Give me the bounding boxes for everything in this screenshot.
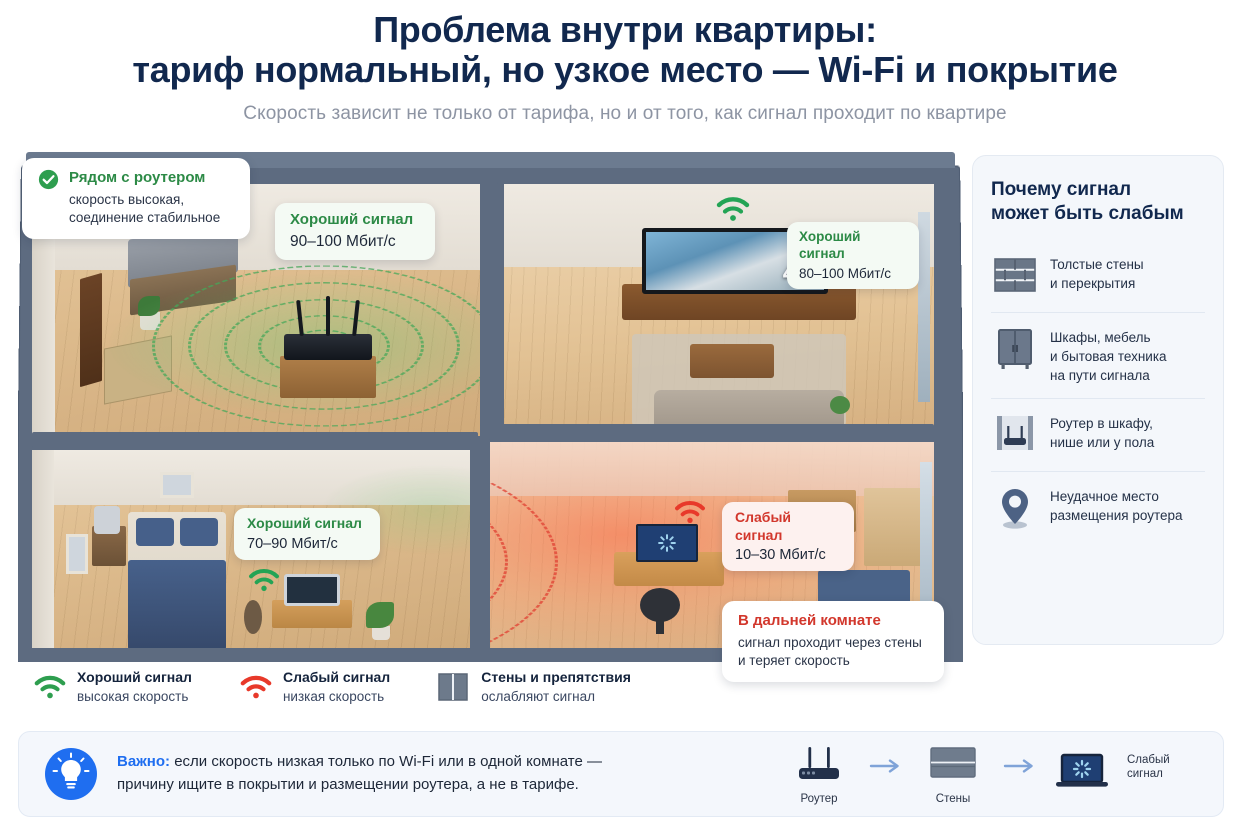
pillow-2 — [180, 518, 218, 546]
infographic-root: Проблема внутри квартиры: тариф нормальн… — [0, 0, 1250, 833]
panel-row-thick-walls: Толстые стены и перекрытия — [991, 240, 1205, 312]
wall-horizontal-left — [32, 432, 478, 448]
panel-title: Почему сигнал может быть слабым — [991, 178, 1205, 226]
legend-item-weak-title: Слабый сигнал — [283, 668, 390, 686]
bottom-note-strong: Важно: — [117, 753, 170, 770]
wall-block-icon — [438, 672, 470, 702]
page-title-line-2: тариф нормальный, но узкое место — Wi-Fi… — [0, 50, 1250, 90]
callout-far-room: В дальней комнате сигнал проходит через … — [722, 601, 944, 682]
flow-step-walls-caption: Стены — [916, 792, 990, 806]
flow-device-caption-line-2: сигнал — [1127, 767, 1197, 781]
check-circle-icon — [38, 169, 59, 190]
legend-item-weak: Слабый сигнал низкая скорость — [240, 668, 390, 706]
wall-vertical-top — [480, 182, 498, 438]
panel-row-thick-walls-text: Толстые стены и перекрытия — [1050, 253, 1144, 293]
bottom-note-line-2: причину ищите в покрытии и размещении ро… — [117, 774, 602, 797]
callout-near-router-line-1: скорость высокая, — [69, 191, 220, 210]
panel-row-bad-placement-text: Неудачное место размещения роутера — [1050, 485, 1183, 525]
bedroom-wall-picture-2 — [66, 534, 88, 574]
office-wardrobe — [864, 488, 928, 566]
panel-row-0-line-2: и перекрытия — [1050, 274, 1144, 293]
signal-flow-diagram: Роутер Стены — [782, 740, 1197, 806]
flow-step-router: Роутер — [782, 740, 856, 806]
bedroom-stool — [244, 600, 262, 634]
coffee-table — [690, 344, 774, 378]
chip-bedroom-value: 70–90 Мбит/с — [247, 536, 367, 552]
wifi-green-icon — [716, 196, 750, 222]
bedroom-monitor — [284, 574, 340, 606]
callout-near-router-line-2: соединение стабильное — [69, 209, 220, 228]
map-pin-icon — [993, 485, 1037, 531]
bottom-note-text: Важно: если скорость низкая только по Wi… — [117, 751, 602, 797]
wall-vertical-bottom — [470, 438, 490, 650]
panel-row-2-line-2: нише или у пола — [1050, 433, 1154, 452]
flow-step-device — [1050, 749, 1114, 798]
legend: Хороший сигнал высокая скорость Слабый с… — [34, 668, 631, 706]
panel-row-router-niche: Роутер в шкафу, нише или у пола — [991, 398, 1205, 471]
panel-title-line-2: может быть слабым — [991, 202, 1205, 226]
panel-row-1-line-1: Шкафы, мебель — [1050, 328, 1167, 347]
panel-row-0-line-1: Толстые стены — [1050, 255, 1144, 274]
chip-living-room: Хороший сигнал 80–100 Мбит/с — [787, 222, 919, 289]
wifi-green-icon — [34, 673, 66, 701]
page-subtitle: Скорость зависит не только от тарифа, но… — [0, 103, 1250, 125]
wifi-green-icon — [248, 568, 280, 592]
chip-router-room: Хороший сигнал 90–100 Мбит/с — [275, 203, 435, 260]
chip-far-room-label: Слабый сигнал — [735, 509, 841, 544]
bedroom-plant-pot — [372, 626, 390, 640]
living-window — [918, 212, 930, 402]
cabinet-icon — [993, 326, 1037, 372]
bottom-note-rest: если скорость низкая только по Wi-Fi или… — [170, 753, 602, 770]
router-body — [284, 334, 372, 360]
legend-item-good-title: Хороший сигнал — [77, 668, 192, 686]
chip-bedroom-label: Хороший сигнал — [247, 515, 367, 533]
router-antenna-2 — [326, 296, 330, 336]
callout-far-room-line-2: и теряет скорость — [738, 652, 928, 671]
chip-far-room: Слабый сигнал 10–30 Мбит/с — [722, 502, 854, 571]
legend-item-walls: Стены и препятствия ослабляют сигнал — [438, 668, 631, 706]
arrow-right-icon — [869, 756, 903, 776]
router-icon — [782, 740, 856, 784]
panel-row-1-line-2: и бытовая техника — [1050, 347, 1167, 366]
legend-item-weak-sub: низкая скорость — [283, 688, 390, 706]
arrow-right-icon — [1003, 756, 1037, 776]
bed-blanket — [128, 560, 226, 648]
chip-router-room-value: 90–100 Мбит/с — [290, 233, 420, 251]
wifi-red-icon — [240, 673, 272, 701]
legend-item-walls-sub: ослабляют сигнал — [481, 688, 631, 706]
panel-title-line-1: Почему сигнал — [991, 178, 1205, 202]
chip-far-room-value: 10–30 Мбит/с — [735, 547, 841, 563]
office-bench — [818, 570, 910, 604]
router-table — [280, 356, 376, 398]
callout-near-router: Рядом с роутером скорость высокая, соеди… — [22, 158, 250, 239]
flow-step-router-caption: Роутер — [782, 792, 856, 806]
panel-row-3-line-1: Неудачное место — [1050, 487, 1183, 506]
pillow-1 — [136, 518, 174, 546]
lightbulb-icon — [45, 748, 97, 800]
legend-item-walls-title: Стены и препятствия — [481, 668, 631, 686]
wall-icon — [916, 740, 990, 784]
wall-horizontal-right — [480, 424, 934, 442]
panel-row-bad-placement: Неудачное место размещения роутера — [991, 471, 1205, 544]
header: Проблема внутри квартиры: тариф нормальн… — [0, 0, 1250, 125]
bedroom-plant-leaves — [366, 602, 394, 628]
flow-step-walls: Стены — [916, 740, 990, 806]
chip-bedroom: Хороший сигнал 70–90 Мбит/с — [234, 508, 380, 560]
bedside-lamp — [94, 506, 120, 534]
bedroom-left-wall — [32, 450, 54, 648]
office-chair — [640, 588, 680, 622]
chip-living-room-label: Хороший сигнал — [799, 229, 907, 263]
legend-item-good-sub: высокая скорость — [77, 688, 192, 706]
flow-step-device-caption: Слабый сигнал — [1127, 753, 1197, 794]
legend-item-good: Хороший сигнал высокая скорость — [34, 668, 192, 706]
panel-row-2-line-1: Роутер в шкафу, — [1050, 414, 1154, 433]
bottom-note-bar: Важно: если скорость низкая только по Wi… — [18, 731, 1224, 817]
brick-wall-icon — [993, 253, 1037, 299]
office-laptop — [636, 524, 698, 562]
panel-row-furniture: Шкафы, мебель и бытовая техника на пути … — [991, 312, 1205, 398]
chip-living-room-value: 80–100 Мбит/с — [799, 266, 907, 281]
chip-router-room-label: Хороший сигнал — [290, 211, 420, 230]
loading-spinner-icon — [657, 533, 677, 553]
panel-row-3-line-2: размещения роутера — [1050, 506, 1183, 525]
panel-row-router-niche-text: Роутер в шкафу, нише или у пола — [1050, 412, 1154, 452]
flow-device-caption-line-1: Слабый — [1127, 753, 1197, 767]
callout-far-room-title: В дальней комнате — [738, 611, 928, 631]
page-title-line-1: Проблема внутри квартиры: — [0, 0, 1250, 50]
entry-door — [80, 273, 102, 387]
wifi-red-icon — [674, 500, 706, 524]
callout-near-router-title: Рядом с роутером — [69, 168, 220, 188]
why-weak-panel: Почему сигнал может быть слабым — [972, 155, 1224, 645]
router-in-niche-icon — [993, 412, 1037, 458]
laptop-loading-icon — [1050, 749, 1114, 793]
panel-row-1-line-3: на пути сигнала — [1050, 366, 1167, 385]
living-floor-plant — [830, 396, 850, 414]
bedroom-wall-picture — [160, 472, 194, 498]
panel-row-furniture-text: Шкафы, мебель и бытовая техника на пути … — [1050, 326, 1167, 385]
room-living: 4K — [504, 184, 934, 429]
office-chair-base — [656, 618, 664, 634]
callout-far-room-line-1: сигнал проходит через стены — [738, 634, 928, 653]
